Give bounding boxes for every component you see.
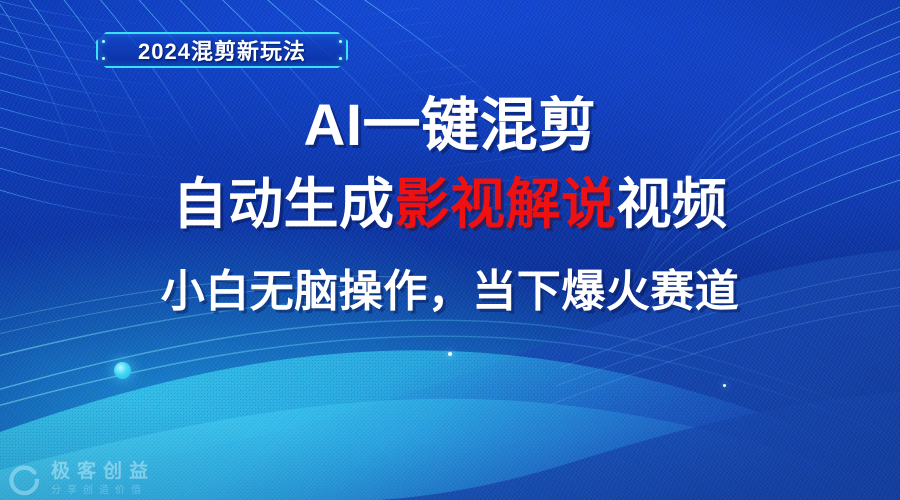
headline-line-3: 小白无脑操作，当下爆火赛道 xyxy=(0,256,900,328)
headline-line-2-prefix: 自动生成 xyxy=(172,173,394,235)
sparkle-right-icon xyxy=(723,384,726,387)
headline-block: AI一键混剪 自动生成影视解说视频 小白无脑操作，当下爆火赛道 xyxy=(0,88,900,328)
cyan-glow-dot xyxy=(114,362,131,379)
promo-poster: 2024混剪新玩法 AI一键混剪 自动生成影视解说视频 小白无脑操作，当下爆火赛… xyxy=(0,0,900,500)
headline-line-2-suffix: 视频 xyxy=(617,173,728,235)
watermark-tagline: 分享创造价值 xyxy=(51,486,155,496)
badge-label: 2024混剪新玩法 xyxy=(96,32,348,68)
brand-watermark: 极客创益 分享创造价值 xyxy=(8,462,155,496)
watermark-brand: 极客创益 xyxy=(51,462,155,481)
sparkle-center-icon xyxy=(448,352,452,356)
headline-line-2: 自动生成影视解说视频 xyxy=(0,164,900,244)
headline-line-1: AI一键混剪 xyxy=(0,88,900,164)
year-tagline-badge: 2024混剪新玩法 xyxy=(96,32,348,68)
circular-g-logo-icon xyxy=(8,462,42,496)
watermark-text: 极客创益 分享创造价值 xyxy=(51,462,155,496)
headline-line-2-highlight: 影视解说 xyxy=(394,173,616,235)
